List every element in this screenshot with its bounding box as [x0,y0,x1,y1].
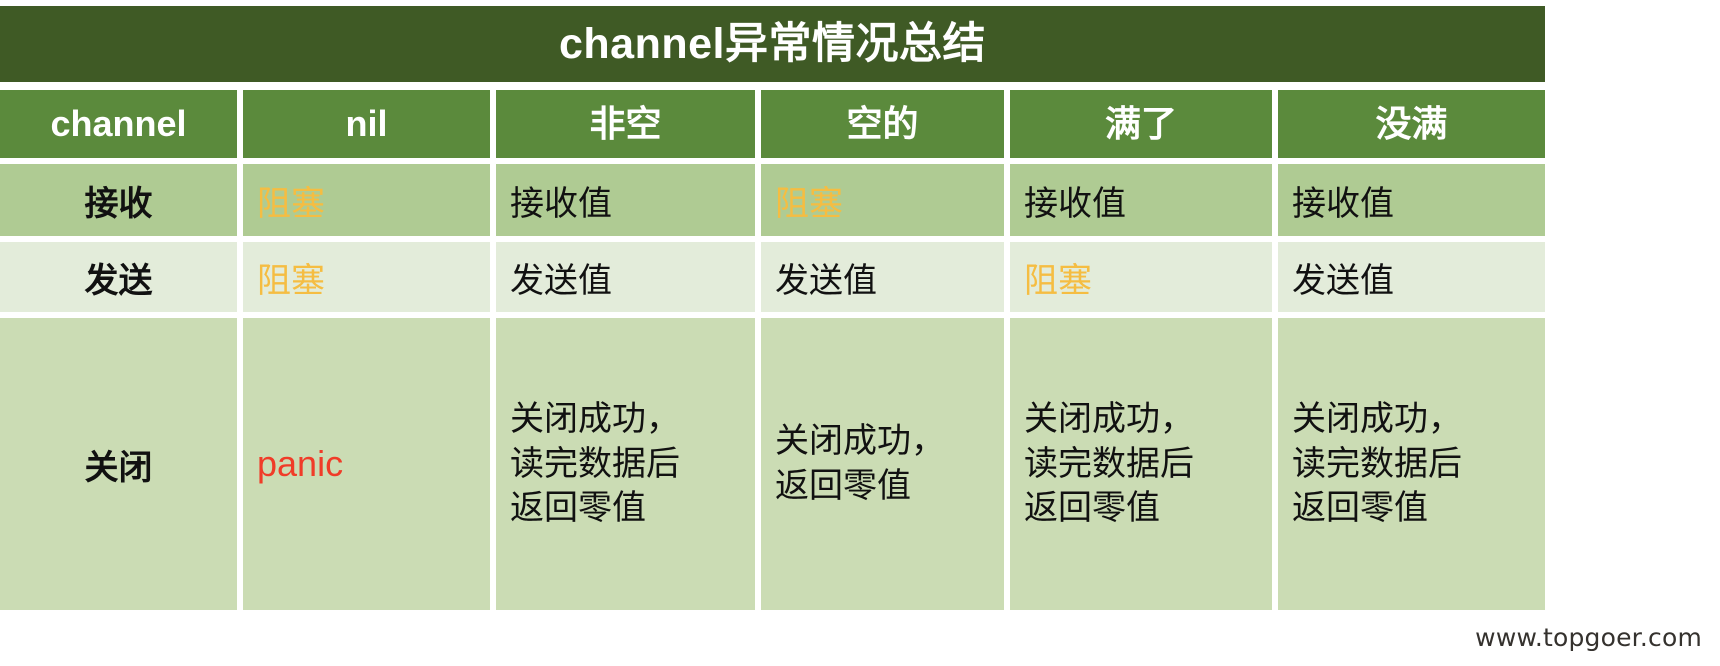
cell-send-nonempty: 发送值 [496,242,761,318]
channel-behavior-table: channel nil 非空 空的 满了 没满 接收 阻塞 接收值 阻塞 接收值… [0,90,1545,610]
cell-receive-nonempty: 接收值 [496,164,761,242]
table-row: 关闭 panic 关闭成功， 读完数据后 返回零值 关闭成功， 返回零值 关闭成… [0,318,1545,610]
cell-receive-notfull: 接收值 [1278,164,1545,242]
cell-receive-full: 接收值 [1010,164,1278,242]
row-label-receive: 接收 [0,164,243,242]
cell-send-notfull: 发送值 [1278,242,1545,318]
column-header-channel: channel [0,90,243,164]
cell-close-full: 关闭成功， 读完数据后 返回零值 [1010,318,1278,610]
table-row: 接收 阻塞 接收值 阻塞 接收值 接收值 [0,164,1545,242]
channel-summary-table-image: channel异常情况总结 channel nil 非空 空的 满了 没满 接收… [0,0,1720,666]
page-title: channel异常情况总结 [559,23,986,66]
cell-send-nil: 阻塞 [243,242,496,318]
cell-close-nonempty: 关闭成功， 读完数据后 返回零值 [496,318,761,610]
column-header-notfull: 没满 [1278,90,1545,164]
column-header-nil: nil [243,90,496,164]
cell-close-nil: panic [243,318,496,610]
site-watermark: www.topgoer.com [1475,623,1702,652]
cell-receive-empty: 阻塞 [761,164,1010,242]
column-header-full: 满了 [1010,90,1278,164]
cell-close-notfull: 关闭成功， 读完数据后 返回零值 [1278,318,1545,610]
cell-send-full: 阻塞 [1010,242,1278,318]
row-label-send: 发送 [0,242,243,318]
cell-send-empty: 发送值 [761,242,1010,318]
title-bar: channel异常情况总结 [0,6,1545,82]
column-header-nonempty: 非空 [496,90,761,164]
cell-close-empty: 关闭成功， 返回零值 [761,318,1010,610]
row-label-close: 关闭 [0,318,243,610]
table-header-row: channel nil 非空 空的 满了 没满 [0,90,1545,164]
cell-receive-nil: 阻塞 [243,164,496,242]
table-row: 发送 阻塞 发送值 发送值 阻塞 发送值 [0,242,1545,318]
column-header-empty: 空的 [761,90,1010,164]
